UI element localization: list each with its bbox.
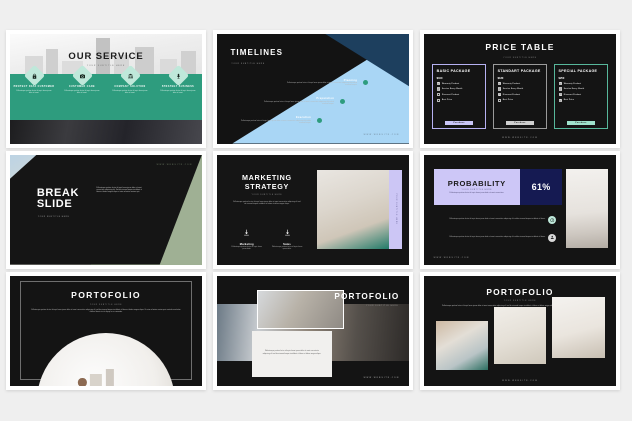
checkbox-unchecked-icon — [498, 99, 501, 102]
stat-row[interactable]: Pellentesque pretium lectus id turpis lo… — [434, 216, 557, 224]
slide-title: PORTOFOLIO — [10, 290, 202, 300]
slide-canvas: BREAK SLIDE YOUR SUBTITLE HERE Pellentes… — [10, 155, 202, 265]
feature-label: Warranty Product — [564, 83, 581, 85]
checkbox-checked-icon — [437, 87, 440, 90]
slide-body: Pellentesque pretium lectus id turpis lo… — [96, 188, 146, 195]
purchase-button[interactable]: Purchase — [445, 121, 473, 126]
slide-canvas: PRICE TABLE YOUR SUBTITLE HERE BASIC PAC… — [424, 34, 616, 144]
slide-canvas: MARKETING STRATEGY YOUR SUBTITLE HERE Pe… — [217, 155, 409, 265]
feature-label: Service Every Month — [503, 88, 524, 90]
feature-row: Warranty Product — [437, 82, 482, 85]
timeline-step[interactable]: Planning Pellentesque pretium lectus id … — [282, 79, 357, 88]
description-card: Pellentesque pretium lectus id turpis lo… — [252, 331, 333, 377]
slide-subtitle: YOUR SUBTITLE HERE — [231, 63, 264, 65]
feature-label: Best Price — [564, 99, 574, 101]
mic-icon — [167, 64, 188, 85]
feature-label: Warranty Product — [503, 83, 520, 85]
slide-body: Pellentesque pretium lectus id turpis lo… — [29, 310, 183, 315]
slide-subtitle: YOUR SUBTITLE HERE — [10, 304, 202, 306]
feature-label: Best Price — [442, 99, 452, 101]
service-body: Pellentesque pretium lectus id turpis lo… — [160, 91, 196, 96]
feature-row: Service Every Month — [498, 87, 543, 90]
desk-photo — [566, 169, 608, 248]
timeline-step-body: Pellentesque pretium lectus id turpis lo… — [236, 121, 311, 126]
checkbox-checked-icon — [498, 87, 501, 90]
side-label: YOUR SUBTITLE HERE — [395, 194, 397, 225]
service-title: COMPANY SOLUTION — [114, 86, 145, 89]
portfolio-photo[interactable] — [552, 297, 604, 358]
slide-thumbnail-marketing-strategy[interactable]: MARKETING STRATEGY YOUR SUBTITLE HERE Pe… — [213, 151, 413, 269]
timeline-dot — [340, 99, 345, 104]
timeline-step-label: Preparation — [259, 97, 334, 100]
service-body: Pellentesque pretium lectus id turpis lo… — [64, 91, 100, 96]
feature-label: Discount Product — [442, 94, 459, 96]
checkbox-checked-icon — [559, 93, 562, 96]
slide-thumbnail-break-slide[interactable]: BREAK SLIDE YOUR SUBTITLE HERE Pellentes… — [6, 151, 206, 269]
footer-url: WWW.WEBSITE.COM — [364, 377, 400, 379]
strategy-item[interactable]: Marketing Pellentesque pretium lectus id… — [227, 223, 267, 252]
service-columns: PROTECT DATA CUSTOMER Pellentesque preti… — [10, 67, 202, 121]
feature-row: Best Price — [559, 99, 604, 102]
footer-url: WWW.WEBSITE.COM — [424, 380, 616, 382]
stat-body: Pellentesque pretium lectus id turpis lo… — [434, 219, 546, 221]
slide-thumbnail-timelines[interactable]: TIMELINES YOUR SUBTITLE HERE Planning Pe… — [213, 30, 413, 148]
slide-thumbnail-portofolio-three[interactable]: PORTOFOLIO YOUR SUBTITLE HERE Pellentesq… — [420, 272, 620, 390]
percent-value: 61% — [532, 182, 551, 192]
package-name: BASIC PACKAGE — [437, 69, 482, 74]
slide-subtitle: YOUR SUBTITLE HERE — [424, 57, 616, 59]
slide-canvas: PORTOFOLIO YOUR SUBTITLE HERE Pellentesq… — [424, 276, 616, 386]
slide-title: PROBABILITY — [448, 179, 506, 188]
feature-row: Best Price — [498, 99, 543, 102]
checkbox-unchecked-icon — [437, 93, 440, 96]
package-name: SPECIAL PACKAGE — [559, 69, 604, 74]
timeline-step-body: Pellentesque pretium lectus id turpis lo… — [259, 102, 334, 107]
feature-label: Service Every Month — [564, 88, 585, 90]
checkbox-checked-icon — [437, 82, 440, 85]
slide-subtitle: YOUR SUBTITLE HERE — [225, 194, 309, 196]
pricing-card-special[interactable]: SPECIAL PACKAGE $250 Warranty Product Se… — [554, 64, 609, 129]
slide-title-line2: STRATEGY — [225, 182, 309, 191]
footer-url: WWW.WEBSITE.COM — [434, 257, 470, 259]
strategy-item-label: Marketing — [240, 243, 254, 246]
slide-subtitle: YOUR SUBTITLE HERE — [366, 305, 398, 307]
service-title: STRATEGY BUSINESS — [162, 86, 194, 89]
camera-icon — [71, 64, 92, 85]
portfolio-photo[interactable] — [494, 307, 546, 364]
feature-label: Best Price — [503, 99, 513, 101]
slide-thumbnail-portofolio-round[interactable]: PORTOFOLIO YOUR SUBTITLE HERE Pellentesq… — [6, 272, 206, 390]
feature-row: Best Price — [437, 99, 482, 102]
service-title: CUSTOMER CARE — [69, 86, 95, 89]
slide-body: Pellentesque pretium lectus id turpis lo… — [261, 351, 322, 356]
strategy-item-body: Pellentesque pretium lectus id turpis lo… — [230, 247, 263, 252]
timeline-step[interactable]: Preparation Pellentesque pretium lectus … — [259, 97, 334, 106]
feature-label: Warranty Product — [442, 83, 459, 85]
feature-label: Discount Product — [503, 94, 520, 96]
slide-canvas: PORTOFOLIO YOUR SUBTITLE HERE Pellentesq… — [10, 276, 202, 386]
percent-badge: 61% — [520, 169, 562, 205]
slide-thumbnail-probability[interactable]: PROBABILITY YOUR SUBTITLE HERE Pellentes… — [420, 151, 620, 269]
service-column[interactable]: PROTECT DATA CUSTOMER Pellentesque preti… — [10, 67, 58, 121]
slide-body: Pellentesque pretium lectus id turpis lo… — [441, 193, 512, 195]
feature-row: Warranty Product — [498, 82, 543, 85]
team-photo — [257, 290, 343, 330]
slide-title: PORTOFOLIO — [424, 287, 616, 297]
portfolio-photos — [436, 321, 605, 371]
slide-body: Pellentesque pretium lectus id turpis lo… — [232, 202, 301, 207]
feature-row: Discount Product — [437, 93, 482, 96]
stat-body: Pellentesque pretium lectus id turpis lo… — [434, 237, 546, 239]
portfolio-photo[interactable] — [436, 321, 488, 371]
slide-title: MARKETING STRATEGY — [225, 173, 309, 191]
pricing-card-basic[interactable]: BASIC PACKAGE $100 Warranty Product Serv… — [432, 64, 487, 129]
checkbox-checked-icon — [559, 87, 562, 90]
strategy-item-label: Sales — [283, 243, 291, 246]
timeline-dot — [317, 118, 322, 123]
timeline-step-body: Pellentesque pretium lectus id turpis lo… — [282, 83, 357, 88]
strategy-items: Marketing Pellentesque pretium lectus id… — [227, 223, 308, 252]
feature-row: Warranty Product — [559, 82, 604, 85]
feature-row: Service Every Month — [559, 87, 604, 90]
checkbox-checked-icon — [498, 93, 501, 96]
slide-title: OUR SERVICE — [10, 51, 202, 62]
desk-photo — [10, 120, 202, 143]
slide-canvas: OUR SERVICE YOUR SUBTITLE HERE PROTECT D… — [10, 34, 202, 144]
slide-title: BREAK SLIDE — [37, 188, 79, 212]
slide-title: TIMELINES — [230, 48, 283, 57]
slide-canvas: PROBABILITY YOUR SUBTITLE HERE Pellentes… — [424, 155, 616, 265]
feature-row: Service Every Month — [437, 87, 482, 90]
lock-icon — [23, 64, 44, 85]
slide-title: PORTOFOLIO — [334, 292, 399, 301]
slide-thumbnail-grid: OUR SERVICE YOUR SUBTITLE HERE PROTECT D… — [0, 0, 632, 421]
checkbox-checked-icon — [559, 82, 562, 85]
timeline-step-label: Execution — [236, 116, 311, 119]
stat-row[interactable]: Pellentesque pretium lectus id turpis lo… — [434, 234, 557, 242]
download-arrow-icon — [243, 223, 250, 241]
slide-canvas: Pellentesque pretium lectus id turpis lo… — [217, 276, 409, 386]
slide-thumbnail-our-service[interactable]: OUR SERVICE YOUR SUBTITLE HERE PROTECT D… — [6, 30, 206, 148]
service-body: Pellentesque pretium lectus id turpis lo… — [112, 91, 148, 96]
bank-icon — [119, 64, 140, 85]
feature-label: Discount Product — [564, 94, 581, 96]
slide-subtitle: YOUR SUBTITLE HERE — [38, 216, 70, 218]
footer-url: WWW.WEBSITE.COM — [364, 134, 400, 136]
purchase-button[interactable]: Purchase — [567, 121, 595, 126]
service-column[interactable]: COMPANY SOLUTION Pellentesque pretium le… — [106, 67, 154, 121]
purchase-button[interactable]: Purchase — [506, 121, 534, 126]
slide-canvas: TIMELINES YOUR SUBTITLE HERE Planning Pe… — [217, 34, 409, 144]
slide-title-line2: SLIDE — [37, 199, 79, 211]
slide-subtitle: YOUR SUBTITLE HERE — [462, 189, 493, 191]
slide-title-line1: MARKETING — [225, 173, 309, 182]
package-price: $250 — [559, 77, 604, 80]
timeline-step-label: Planning — [282, 79, 357, 82]
package-price: $180 — [498, 77, 543, 80]
checkbox-unchecked-icon — [437, 99, 440, 102]
service-title: PROTECT DATA CUSTOMER — [14, 86, 55, 89]
feature-row: Discount Product — [498, 93, 543, 96]
strategy-item[interactable]: Sales Pellentesque pretium lectus id tur… — [267, 223, 307, 252]
service-body: Pellentesque pretium lectus id turpis lo… — [16, 91, 52, 96]
checkbox-checked-icon — [498, 82, 501, 85]
feature-label: Service Every Month — [442, 88, 463, 90]
package-price: $100 — [437, 77, 482, 80]
slide-thumbnail-portofolio-wide[interactable]: Pellentesque pretium lectus id turpis lo… — [213, 272, 413, 390]
feature-row: Discount Product — [559, 93, 604, 96]
interior-photo — [317, 170, 390, 249]
user-icon — [548, 234, 556, 242]
timeline-step[interactable]: Execution Pellentesque pretium lectus id… — [236, 116, 311, 125]
service-column[interactable]: STRATEGY BUSINESS Pellentesque pretium l… — [154, 67, 202, 121]
slide-title: PRICE TABLE — [424, 42, 616, 52]
download-arrow-icon — [284, 223, 291, 241]
footer-url: WWW.WEBSITE.COM — [424, 137, 616, 139]
slide-thumbnail-price-table[interactable]: PRICE TABLE YOUR SUBTITLE HERE BASIC PAC… — [420, 30, 620, 148]
title-box: PROBABILITY YOUR SUBTITLE HERE Pellentes… — [434, 169, 520, 205]
lavender-panel: YOUR SUBTITLE HERE — [389, 170, 402, 249]
pricing-card-standart[interactable]: STANDART PACKAGE $180 Warranty Product S… — [493, 64, 548, 129]
clock-icon — [548, 216, 556, 224]
checkbox-checked-icon — [559, 99, 562, 102]
package-name: STANDART PACKAGE — [498, 69, 543, 74]
footer-url: WWW.WEBSITE.COM — [157, 164, 193, 166]
service-column[interactable]: CUSTOMER CARE Pellentesque pretium lectu… — [58, 67, 106, 121]
pricing-cards: BASIC PACKAGE $100 Warranty Product Serv… — [432, 64, 609, 129]
strategy-item-body: Pellentesque pretium lectus id turpis lo… — [271, 247, 304, 252]
